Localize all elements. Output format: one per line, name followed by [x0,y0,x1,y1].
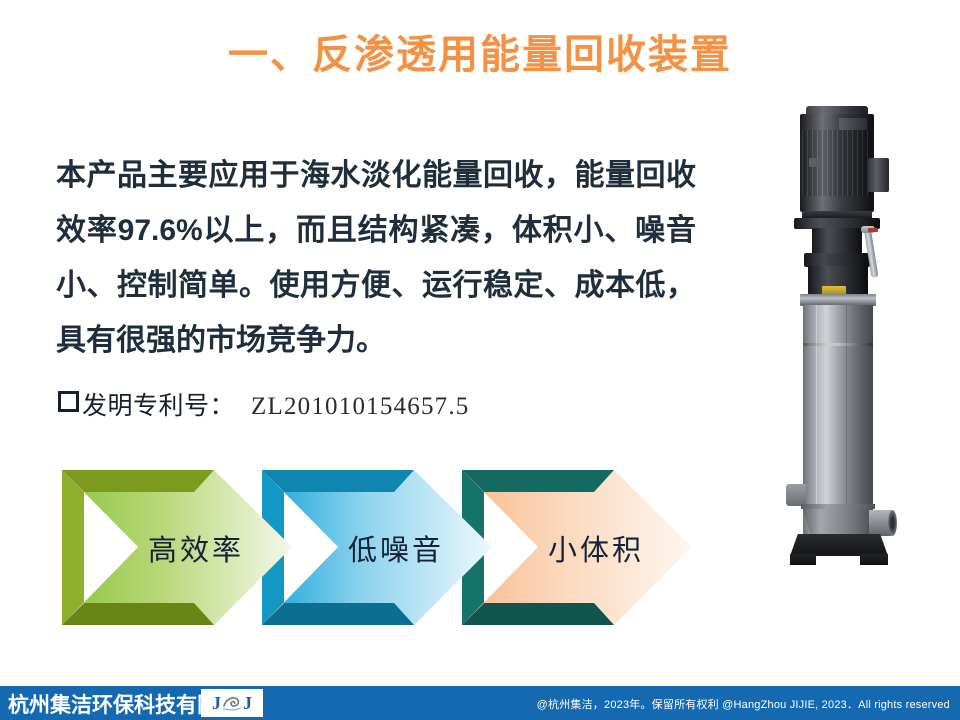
chevron-di-zao-yin[interactable]: 低噪音 [262,470,492,625]
chevron-row: 高效率 低噪音 [0,470,720,640]
body-paragraph: 本产品主要应用于海水淡化能量回收，能量回收效率97.6%以上，而且结构紧凑，体积… [56,148,696,368]
company-logo: J J [201,689,263,717]
chevron-gao-xiao-lv[interactable]: 高效率 [62,470,292,625]
logo-letter-right: J [243,694,252,712]
patent-number: ZL201010154657.5 [251,393,470,421]
red-marker-tag [868,228,878,232]
chevron-shape-blue [262,470,492,625]
patent-label: 发明专利号： [82,386,235,422]
product-photo-energy-recovery-pump [760,106,940,651]
pump-base-pedestal [790,534,888,556]
vessel-ring [803,343,873,346]
inlet-nozzle [786,484,806,506]
jijie-swirl-icon [222,694,242,712]
slide-canvas: 一、反渗透用能量回收装置 本产品主要应用于海水淡化能量回收，能量回收效率97.6… [0,0,960,720]
outlet-nozzle-face [888,510,897,536]
chevron-shape-green [62,470,292,625]
motor-nameplate-side [809,158,820,167]
vessel-taper [803,509,873,537]
motor-junction-box [868,158,889,192]
hollow-square-bullet-icon [58,391,79,412]
pump-base-foot-right [860,554,888,565]
patent-line: 发明专利号： ZL201010154657.5 [58,386,470,422]
logo-letter-left: J [212,694,221,712]
coupling-neck [812,228,862,254]
chevron-xiao-ti-ji[interactable]: 小体积 [462,470,692,625]
footer-copyright: @杭州集洁，2023年。保留所有权利 @HangZhou JIJIE, 2023… [537,696,950,712]
motor-nameplate-top [839,118,867,130]
vessel-bottom-ring [801,504,875,509]
page-title: 一、反渗透用能量回收装置 [0,33,960,77]
coupling-mid-flange [804,253,870,267]
chevron-shape-orange [462,470,692,625]
pump-base-foot-left [790,554,816,565]
